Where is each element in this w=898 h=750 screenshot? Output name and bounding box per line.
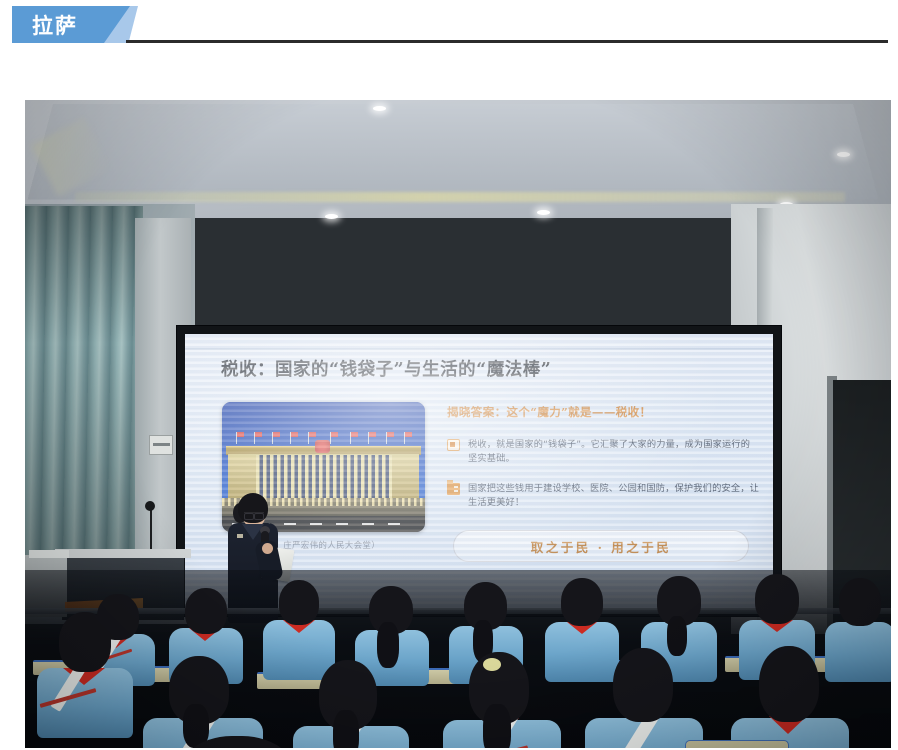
student	[37, 612, 133, 738]
monitor-icon	[447, 439, 460, 451]
slide-bullet-2-text: 国家把这些钱用于建设学校、医院、公园和国防，保护我们的安全，让生活更美好！	[468, 482, 759, 511]
student	[293, 660, 409, 748]
red-flag	[351, 432, 358, 437]
lectern-top	[55, 549, 191, 558]
ceiling	[25, 100, 891, 218]
building-icon	[447, 483, 460, 495]
national-emblem-icon	[315, 440, 330, 453]
hair-scrunchie	[483, 658, 501, 671]
header-tag-label: 拉萨	[12, 6, 130, 43]
page-header: 拉萨	[0, 0, 898, 52]
slide-title: 税收：国家的“钱袋子”与生活的“魔法棒”	[221, 356, 551, 381]
curtain-shading	[25, 206, 143, 598]
slide-bullet-1-text: 税收，就是国家的“钱袋子”。它汇聚了大家的力量，成为国家运行的坚实基础。	[468, 438, 759, 467]
header-divider-rule	[126, 40, 888, 43]
student-head	[839, 578, 881, 626]
ceiling-downlight	[373, 106, 386, 111]
wall-control-panel[interactable]	[149, 435, 173, 455]
red-flag	[273, 432, 280, 437]
ceiling-downlight	[537, 210, 550, 215]
student	[171, 736, 303, 748]
slide-bullet-1: 税收，就是国家的“钱袋子”。它汇聚了大家的力量，成为国家运行的坚实基础。	[447, 438, 759, 467]
student-head	[759, 646, 819, 722]
podium-mic-stem	[150, 508, 152, 553]
student	[443, 652, 561, 748]
red-flag	[291, 432, 298, 437]
student-head	[171, 736, 303, 748]
ceiling-cove-light	[75, 192, 845, 202]
ceiling-downlight	[325, 214, 338, 219]
slide-slogan-text: 取之于民 · 用之于民	[531, 537, 672, 556]
student-ponytail	[333, 710, 359, 748]
presenter-hand	[262, 543, 273, 554]
red-flag	[369, 432, 376, 437]
red-flag	[387, 432, 394, 437]
student	[143, 656, 263, 748]
slide-top-divider	[185, 348, 773, 350]
red-flag	[405, 432, 412, 437]
student-ponytail	[483, 704, 511, 748]
glasses-icon	[244, 512, 264, 518]
student-head	[613, 648, 673, 722]
building-left-wing	[228, 458, 256, 498]
student	[731, 646, 849, 748]
slide-bullet-2: 国家把这些钱用于建设学校、医院、公园和国防，保护我们的安全，让生活更美好！	[447, 482, 759, 511]
student-head	[755, 574, 799, 624]
red-flag	[331, 432, 338, 437]
presenter-badge	[237, 534, 243, 538]
student	[585, 648, 703, 748]
ceiling-downlight	[837, 152, 850, 157]
student-head	[185, 588, 227, 634]
podium-microphone-icon	[145, 501, 155, 511]
slide-lead-text: 揭晓答案：这个“魔力”就是——税收！	[447, 404, 651, 420]
student-head	[279, 580, 319, 625]
red-flag	[237, 432, 244, 437]
red-flag	[309, 432, 316, 437]
ceiling-recess	[28, 104, 879, 200]
student-head	[59, 612, 111, 672]
building-right-wing	[392, 458, 419, 498]
student-chair	[685, 740, 789, 748]
classroom-photo: 税收：国家的“钱袋子”与生活的“魔法棒”	[25, 100, 891, 748]
lectern-keyboard[interactable]	[29, 550, 69, 558]
student-head	[561, 578, 603, 626]
red-flag	[255, 432, 262, 437]
slide-slogan-pill: 取之于民 · 用之于民	[453, 530, 749, 562]
